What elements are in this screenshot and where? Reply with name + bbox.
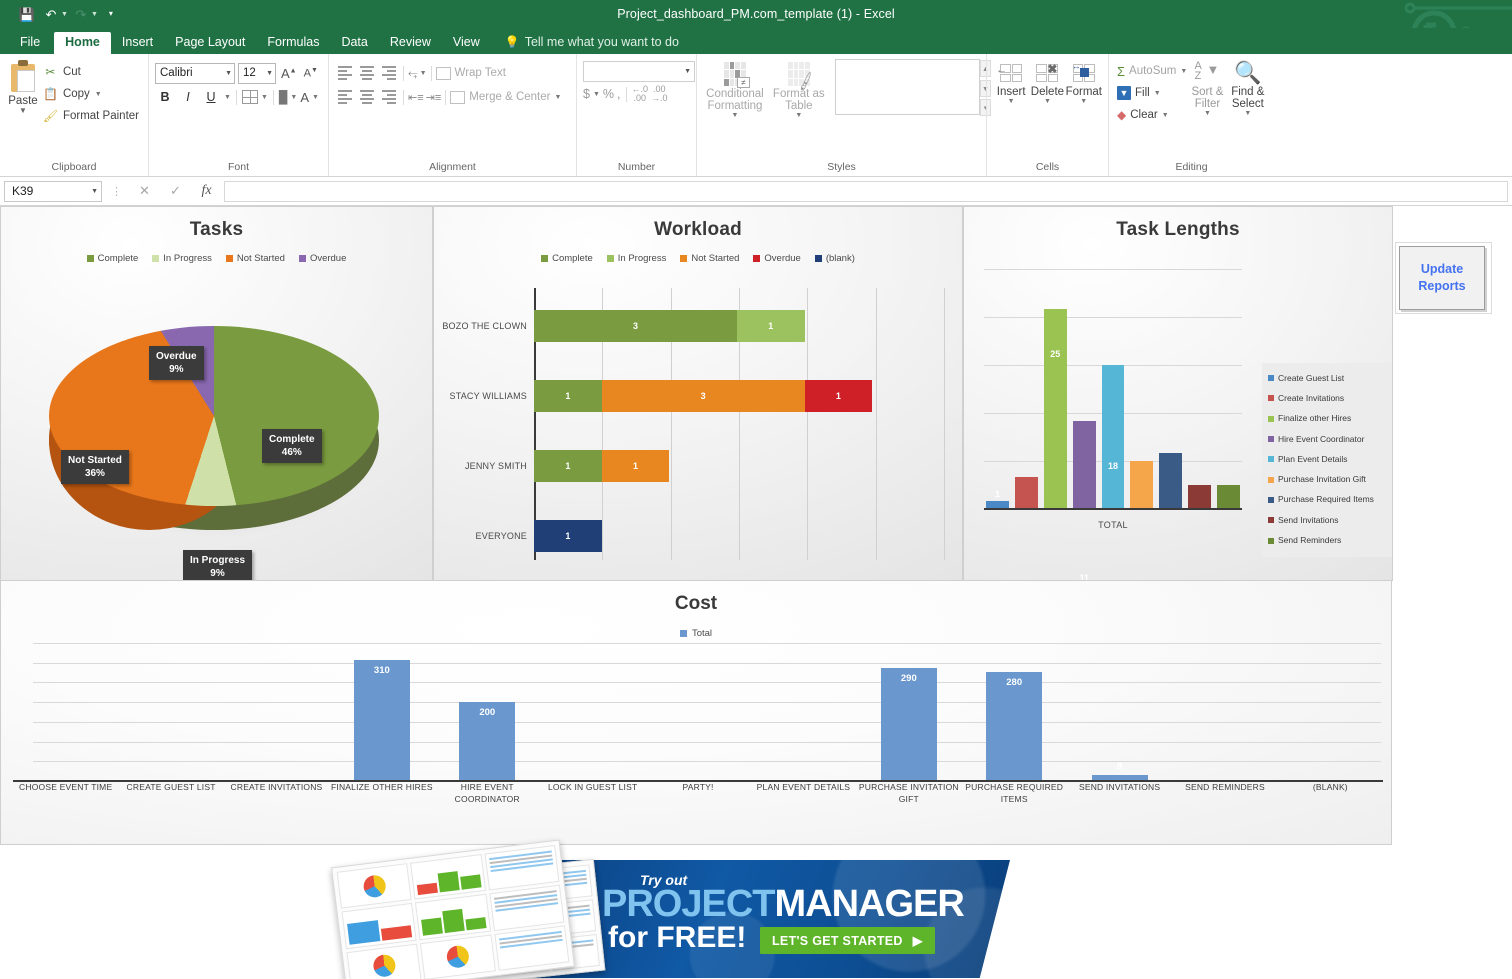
legend-label: Overdue	[764, 253, 800, 264]
task-lengths-plot: 1 4 25 11 18	[964, 255, 1392, 560]
chevron-down-icon[interactable]: ▼	[261, 94, 268, 101]
font-family-value: Calibri	[160, 67, 225, 79]
insert-cells-button[interactable]: ← Insert ▼	[993, 58, 1029, 105]
bar-column[interactable]	[224, 645, 329, 780]
align-right-button[interactable]	[379, 88, 399, 106]
bar-column[interactable]	[1278, 645, 1383, 780]
legend-item: In Progress	[152, 253, 212, 264]
font-group-label: Font	[155, 159, 322, 176]
ribbon-group-editing: Σ AutoSum ▼ ▼ Fill ▼ ◆ Clear ▼ AZ▼	[1108, 54, 1274, 176]
enter-formula-button[interactable]: ✓	[162, 181, 189, 202]
bar-segment[interactable]: 1	[602, 450, 670, 482]
bar-column[interactable]: 18	[1102, 365, 1125, 509]
legend-label: Create Invitations	[1278, 394, 1344, 403]
find-select-button[interactable]: 🔍 Find & Select ▼	[1228, 58, 1268, 117]
ad-brand-manager: MANAGER	[774, 883, 963, 925]
tell-me-label: Tell me what you want to do	[525, 35, 679, 49]
advertisement-area: Try out PROJECTMANAGER for FREE! LET'S G…	[0, 845, 1512, 979]
cells-group-label: Cells	[993, 159, 1102, 176]
sigma-icon: Σ	[1117, 64, 1125, 79]
category-label: LOCK IN GUEST LIST	[540, 781, 645, 811]
ribbon-group-font: Calibri ▼ 12 ▼ A▲ A▼ B I U ▼ ▼ █	[148, 54, 328, 176]
font-family-select[interactable]: Calibri ▼	[155, 63, 235, 84]
ad-screenshot-front	[331, 839, 575, 979]
arrow-right-icon: ▶	[913, 933, 923, 948]
legend-item: Hire Event Coordinator	[1268, 429, 1388, 449]
tab-review[interactable]: Review	[379, 32, 442, 55]
formula-input[interactable]	[224, 181, 1508, 202]
decrease-indent-icon[interactable]: ⇤≡	[408, 91, 424, 104]
table-row[interactable]: JENNY SMITH 1 1	[434, 450, 944, 482]
decrease-decimal-button[interactable]: .00→.0	[651, 85, 668, 103]
copy-icon: 📋	[43, 87, 58, 102]
category-label: SEND INVITATIONS	[1067, 781, 1172, 811]
wrap-text-button[interactable]: Wrap Text	[436, 67, 506, 80]
paintbrush-icon: 🖌	[43, 109, 58, 124]
save-icon[interactable]: 💾	[16, 3, 38, 25]
bar-column[interactable]: 6	[1130, 461, 1153, 509]
chevron-down-icon[interactable]: ▼	[95, 91, 102, 98]
legend-label: Send Reminders	[1278, 536, 1341, 545]
bar-column[interactable]	[645, 645, 750, 780]
ribbon[interactable]: Paste ▼ ✂ Cut 📋 Copy ▼ 🖌 Format Painter	[0, 54, 1512, 177]
legend-label: Hire Event Coordinator	[1278, 435, 1364, 444]
editing-group-label: Editing	[1115, 159, 1268, 176]
increase-indent-icon[interactable]: ⇥≡	[426, 91, 442, 104]
bold-button[interactable]: B	[155, 87, 175, 107]
bar-segment[interactable]: 1	[534, 520, 602, 552]
legend-label: In Progress	[618, 253, 667, 264]
ad-cta-button[interactable]: LET'S GET STARTED ▶	[760, 927, 935, 954]
sort-filter-icon: AZ▼	[1193, 60, 1221, 86]
currency-format-button[interactable]: $	[583, 87, 590, 101]
align-left-button[interactable]	[335, 88, 355, 106]
bar-column[interactable]: 280	[962, 645, 1067, 780]
workload-rows: BOZO THE CLOWN 3 1 STACY WILLIAMS 1 3 1	[434, 288, 944, 560]
category-label: CREATE GUEST LIST	[118, 781, 223, 811]
ribbon-group-alignment: ⥆ ▼ Wrap Text ⇤≡ ⇥≡ Merge & Center	[328, 54, 576, 176]
category-label: (BLANK)	[1278, 781, 1383, 811]
cost-chart-title: Cost	[1, 581, 1391, 615]
fill-label: Fill	[1135, 87, 1150, 99]
formula-bar-separator: ⋮	[106, 185, 127, 198]
format-label: Format	[1066, 86, 1102, 98]
chevron-down-icon[interactable]: ▼	[1154, 90, 1161, 97]
chevron-down-icon[interactable]: ▼	[312, 94, 319, 101]
cancel-formula-button[interactable]: ✕	[131, 181, 158, 202]
update-reports-line2: Reports	[1418, 278, 1465, 295]
copy-button[interactable]: 📋 Copy ▼	[40, 83, 142, 105]
legend-label: Complete	[552, 253, 593, 264]
bar-value: 25	[1050, 349, 1060, 359]
worksheet-dashboard[interactable]: Tasks Complete In Progress Not Started O…	[0, 206, 1512, 979]
legend-label: Purchase Required Items	[1278, 495, 1374, 504]
underline-button[interactable]: U	[201, 87, 221, 107]
insert-label: Insert	[997, 86, 1026, 98]
scissors-icon: ✂	[43, 65, 58, 80]
task-lengths-axis	[984, 508, 1242, 510]
cost-category-labels: CHOOSE EVENT TIME CREATE GUEST LIST CREA…	[13, 781, 1383, 811]
increase-decimal-button[interactable]: ←.0.00	[632, 85, 649, 103]
legend-item: Complete	[541, 253, 593, 264]
format-as-table-label: Format as Table	[767, 88, 831, 112]
row-label: JENNY SMITH	[434, 461, 534, 471]
legend-item: Purchase Invitation Gift	[1268, 469, 1388, 489]
bar-column[interactable]: 3	[1217, 485, 1240, 509]
ribbon-group-clipboard: Paste ▼ ✂ Cut 📋 Copy ▼ 🖌 Format Painter	[0, 54, 148, 176]
bar-value: 11	[1079, 573, 1089, 581]
cost-bars: 310 200 290 280 8	[13, 645, 1383, 780]
table-row[interactable]: EVERYONE 1	[434, 520, 944, 552]
fill-down-icon: ▼	[1117, 86, 1131, 100]
chart-workload[interactable]: Workload Complete In Progress Not Starte…	[433, 206, 963, 581]
cost-plot: 310 200 290 280 8	[1, 643, 1391, 809]
styles-group-label: Styles	[703, 159, 980, 176]
category-label: FINALIZE OTHER HIRES	[329, 781, 434, 811]
chevron-down-icon[interactable]: ▼	[225, 70, 232, 77]
bar-segment[interactable]: 1	[534, 450, 602, 482]
ribbon-group-cells: ← Insert ▼ ✖ Delete ▼ ↔ Format	[986, 54, 1108, 176]
legend-item: In Progress	[607, 253, 667, 264]
legend-item: Purchase Required Items	[1268, 490, 1388, 510]
chevron-down-icon[interactable]: ▼	[224, 94, 231, 101]
task-lengths-legend: Create Guest List Create Invitations Fin…	[1262, 363, 1392, 557]
copy-label: Copy	[63, 88, 90, 100]
row-label: BOZO THE CLOWN	[434, 321, 534, 331]
wrap-text-icon	[436, 67, 451, 80]
category-label: HIRE EVENT COORDINATOR	[435, 781, 540, 811]
cell-styles-gallery[interactable]: ▲ ▼ ▾	[835, 59, 980, 115]
workload-plot: BOZO THE CLOWN 3 1 STACY WILLIAMS 1 3 1	[434, 282, 962, 581]
find-select-label: Find & Select	[1228, 86, 1268, 110]
cut-button[interactable]: ✂ Cut	[40, 61, 142, 83]
bar-column[interactable]: 310	[329, 645, 434, 780]
legend-item: Complete	[87, 253, 139, 264]
legend-label: Plan Event Details	[1278, 455, 1347, 464]
bar-column[interactable]	[540, 645, 645, 780]
increase-font-size-button[interactable]: A▲	[279, 66, 299, 81]
bar-column[interactable]: 25	[1044, 309, 1067, 509]
insert-cells-icon: ←	[997, 60, 1025, 86]
sort-filter-button[interactable]: AZ▼ Sort & Filter ▼	[1187, 58, 1227, 117]
chevron-down-icon[interactable]: ▼	[1204, 110, 1211, 117]
tasks-chart-legend: Complete In Progress Not Started Overdue	[1, 253, 432, 264]
align-top-button[interactable]	[335, 64, 355, 82]
row-label: STACY WILLIAMS	[434, 391, 534, 401]
chevron-down-icon[interactable]: ▼	[554, 94, 561, 101]
font-size-select[interactable]: 12 ▼	[238, 63, 276, 84]
delete-cells-icon: ✖	[1033, 60, 1061, 86]
formula-bar[interactable]: K39 ▼ ⋮ ✕ ✓ fx	[0, 177, 1512, 206]
quick-access-toolbar[interactable]: 💾 ↶ ▼ ↷ ▼ ▾	[0, 3, 122, 25]
chevron-down-icon[interactable]: ▼	[266, 70, 273, 77]
ad-for-free-label: for FREE!	[608, 923, 746, 953]
paste-icon	[8, 60, 38, 94]
tasks-chart-title: Tasks	[1, 207, 432, 241]
number-format-select[interactable]: ▼	[583, 61, 695, 82]
legend-item: (blank)	[815, 253, 855, 264]
format-as-table-button[interactable]: 🖌 Format as Table ▼	[767, 58, 831, 119]
bar-column[interactable]: 4	[1015, 477, 1038, 509]
bar-value: 310	[354, 665, 410, 676]
chevron-down-icon[interactable]: ▼	[731, 112, 738, 119]
tab-data[interactable]: Data	[330, 32, 378, 55]
category-label: PURCHASE INVITATION GIFT	[856, 781, 961, 811]
bar-column[interactable]: 7	[1159, 453, 1182, 509]
borders-icon[interactable]	[242, 90, 258, 104]
legend-label: Finalize other Hires	[1278, 414, 1351, 423]
window-title: Project_dashboard_PM.com_template (1) - …	[0, 7, 1512, 21]
legend-label: In Progress	[163, 253, 212, 264]
legend-label: Complete	[98, 253, 139, 264]
ribbon-group-styles: ≠ Conditional Formatting ▼ 🖌 Format as T…	[696, 54, 986, 176]
italic-button[interactable]: I	[178, 87, 198, 107]
chevron-down-icon[interactable]: ▼	[1244, 110, 1251, 117]
sort-filter-label: Sort & Filter	[1187, 86, 1227, 110]
chevron-down-icon[interactable]: ▼	[1044, 98, 1051, 105]
bar-value: 200	[459, 707, 515, 718]
ad-brand-project: PROJECT	[602, 883, 774, 925]
merge-cells-icon	[450, 91, 465, 104]
tab-insert[interactable]: Insert	[111, 32, 164, 55]
update-reports-line1: Update	[1421, 261, 1463, 278]
table-row[interactable]: BOZO THE CLOWN 3 1	[434, 310, 944, 342]
font-color-icon[interactable]: A	[300, 90, 309, 105]
name-box-value: K39	[12, 184, 91, 198]
bar-segment[interactable]: 1	[805, 380, 873, 412]
legend-item: Not Started	[680, 253, 739, 264]
chevron-down-icon[interactable]: ▼	[1180, 68, 1187, 75]
chevron-down-icon[interactable]: ▼	[1080, 98, 1087, 105]
tab-home[interactable]: Home	[54, 32, 111, 55]
legend-label: Not Started	[691, 253, 739, 264]
orientation-icon[interactable]: ⥆	[408, 66, 418, 81]
category-label: PLAN EVENT DETAILS	[751, 781, 856, 811]
chevron-down-icon[interactable]: ▼	[19, 106, 27, 115]
bar-segment[interactable]: 1	[534, 380, 602, 412]
customize-qat-icon[interactable]: ▾	[100, 3, 122, 25]
dashboard-side-area: Update Reports	[1393, 206, 1512, 581]
chart-cost[interactable]: Cost Total 310 200	[0, 581, 1392, 845]
legend-item: Send Reminders	[1268, 530, 1388, 550]
legend-label: Send Invitations	[1278, 516, 1338, 525]
format-cells-button[interactable]: ↔ Format ▼	[1066, 58, 1102, 105]
chevron-down-icon[interactable]: ▼	[1008, 98, 1015, 105]
lightbulb-icon: 💡	[505, 35, 520, 49]
row-label: EVERYONE	[434, 531, 534, 541]
bar-segment[interactable]: 1	[737, 310, 805, 342]
comma-format-button[interactable]: ,	[617, 87, 620, 101]
legend-swatch	[680, 630, 687, 637]
chevron-down-icon[interactable]: ▼	[420, 70, 427, 77]
percent-format-button[interactable]: %	[603, 87, 614, 101]
pie-label-complete: Complete46%	[262, 429, 322, 463]
legend-item: Send Invitations	[1268, 510, 1388, 530]
legend-item: Create Guest List	[1268, 368, 1388, 388]
delete-cells-button[interactable]: ✖ Delete ▼	[1029, 58, 1065, 105]
conditional-formatting-label: Conditional Formatting	[703, 88, 767, 112]
bar-segment[interactable]: 3	[534, 310, 737, 342]
bar-column[interactable]: 290	[856, 645, 961, 780]
fill-color-icon[interactable]: █	[279, 90, 288, 104]
projectmanager-ad-banner[interactable]: Try out PROJECTMANAGER for FREE! LET'S G…	[330, 845, 1010, 979]
task-lengths-bars: 1 4 25 11 18	[986, 269, 1240, 509]
legend-item: Create Invitations	[1268, 388, 1388, 408]
decrease-font-size-button[interactable]: A▼	[302, 67, 320, 80]
legend-item: Finalize other Hires	[1268, 409, 1388, 429]
alignment-group-label: Alignment	[335, 159, 570, 176]
ribbon-tabs[interactable]: File Home Insert Page Layout Formulas Da…	[0, 28, 1512, 54]
fill-button[interactable]: ▼ Fill ▼	[1115, 82, 1187, 104]
format-cells-icon: ↔	[1070, 60, 1098, 86]
update-reports-button[interactable]: Update Reports	[1399, 246, 1485, 310]
legend-item: Not Started	[226, 253, 285, 264]
task-lengths-x-label: TOTAL	[984, 520, 1242, 530]
category-label: PURCHASE REQUIRED ITEMS	[962, 781, 1067, 811]
legend-label: (blank)	[826, 253, 855, 264]
clear-label: Clear	[1130, 109, 1157, 121]
insert-function-icon[interactable]: fx	[193, 181, 220, 202]
clipboard-group-label: Clipboard	[6, 159, 142, 176]
autosum-button[interactable]: Σ AutoSum ▼	[1115, 60, 1187, 82]
chart-tasks[interactable]: Tasks Complete In Progress Not Started O…	[0, 206, 433, 581]
merge-center-label: Merge & Center	[469, 91, 550, 103]
merge-center-button[interactable]: Merge & Center ▼	[450, 91, 561, 104]
category-label: PARTY!	[645, 781, 750, 811]
table-row[interactable]: STACY WILLIAMS 1 3 1	[434, 380, 944, 412]
tab-formulas[interactable]: Formulas	[256, 32, 330, 55]
bar-value: 8	[1092, 761, 1148, 772]
legend-label: Create Guest List	[1278, 374, 1344, 383]
chevron-down-icon[interactable]: ▼	[290, 94, 297, 101]
tasks-pie: Overdue9% Complete46% Not Started36% In …	[1, 264, 432, 559]
bar-column[interactable]	[1172, 645, 1277, 780]
chevron-down-icon[interactable]: ▼	[91, 188, 98, 195]
workload-chart-legend: Complete In Progress Not Started Overdue…	[434, 253, 962, 264]
conditional-formatting-icon: ≠	[720, 60, 750, 88]
conditional-formatting-button[interactable]: ≠ Conditional Formatting ▼	[703, 58, 767, 119]
align-middle-button[interactable]	[357, 64, 377, 82]
task-lengths-chart-title: Task Lengths	[964, 207, 1392, 241]
workload-chart-title: Workload	[434, 207, 962, 241]
legend-label: Total	[692, 628, 712, 639]
name-box[interactable]: K39 ▼	[4, 181, 102, 202]
tab-page-layout[interactable]: Page Layout	[164, 32, 256, 55]
legend-label: Purchase Invitation Gift	[1278, 475, 1366, 484]
undo-dropdown-icon[interactable]: ▼	[61, 11, 68, 18]
category-label: CREATE INVITATIONS	[224, 781, 329, 811]
bar-column[interactable]	[751, 645, 856, 780]
search-icon: 🔍	[1234, 60, 1261, 86]
chevron-down-icon[interactable]: ▼	[593, 91, 600, 98]
bar-segment[interactable]: 3	[602, 380, 805, 412]
bar-column[interactable]: 8	[1067, 645, 1172, 780]
format-painter-label: Format Painter	[63, 110, 139, 122]
eraser-icon: ◆	[1117, 108, 1126, 122]
ad-cta-label: LET'S GET STARTED	[772, 934, 903, 948]
bar-column[interactable]	[13, 645, 118, 780]
chart-task-lengths[interactable]: Task Lengths 1 4 25	[963, 206, 1393, 581]
autosum-label: AutoSum	[1129, 65, 1176, 77]
bar-column[interactable]: 3	[1188, 485, 1211, 509]
cut-label: Cut	[63, 66, 81, 78]
paste-button[interactable]: Paste ▼	[6, 58, 40, 115]
tab-view[interactable]: View	[442, 32, 491, 55]
legend-label: Overdue	[310, 253, 346, 264]
delete-label: Delete	[1031, 86, 1064, 98]
font-size-value: 12	[243, 67, 266, 79]
bar-column[interactable]	[118, 645, 223, 780]
align-bottom-button[interactable]	[379, 64, 399, 82]
legend-item: Overdue	[299, 253, 346, 264]
undo-icon[interactable]: ↶	[40, 3, 62, 25]
pie-label-in-progress: In Progress9%	[183, 550, 252, 581]
redo-icon[interactable]: ↷	[70, 3, 92, 25]
tab-file[interactable]: File	[8, 32, 54, 55]
bar-column[interactable]: 11	[1073, 421, 1096, 509]
bar-value: 1	[995, 489, 1000, 499]
bar-value: 280	[986, 677, 1042, 688]
bar-value: 290	[881, 673, 937, 684]
bar-value: 18	[1108, 461, 1118, 471]
format-painter-button[interactable]: 🖌 Format Painter	[40, 105, 142, 127]
category-label: CHOOSE EVENT TIME	[13, 781, 118, 811]
wrap-text-label: Wrap Text	[455, 67, 506, 79]
legend-item: Plan Event Details	[1268, 449, 1388, 469]
ad-brand: PROJECTMANAGER	[602, 885, 964, 923]
redo-dropdown-icon[interactable]: ▼	[91, 11, 98, 18]
chevron-down-icon[interactable]: ▼	[684, 68, 691, 75]
format-as-table-icon: 🖌	[784, 60, 814, 88]
clear-button[interactable]: ◆ Clear ▼	[1115, 104, 1187, 126]
legend-label: Not Started	[237, 253, 285, 264]
legend-item: Overdue	[753, 253, 800, 264]
category-label: SEND REMINDERS	[1172, 781, 1277, 811]
ribbon-group-number: ▼ $ ▼ % , ←.0.00 .00→.0 Number	[576, 54, 696, 176]
chevron-down-icon[interactable]: ▼	[1162, 112, 1169, 119]
align-center-button[interactable]	[357, 88, 377, 106]
tell-me-search[interactable]: 💡 Tell me what you want to do	[505, 35, 679, 54]
bar-column[interactable]: 200	[435, 645, 540, 780]
pie-label-overdue: Overdue9%	[149, 346, 204, 380]
pie-label-not-started: Not Started36%	[61, 450, 129, 484]
number-group-label: Number	[583, 159, 690, 176]
title-bar: 💾 ↶ ▼ ↷ ▼ ▾ Project_dashboard_PM.com_tem…	[0, 0, 1512, 28]
cost-chart-legend: Total	[1, 628, 1391, 639]
chevron-down-icon[interactable]: ▼	[795, 112, 802, 119]
